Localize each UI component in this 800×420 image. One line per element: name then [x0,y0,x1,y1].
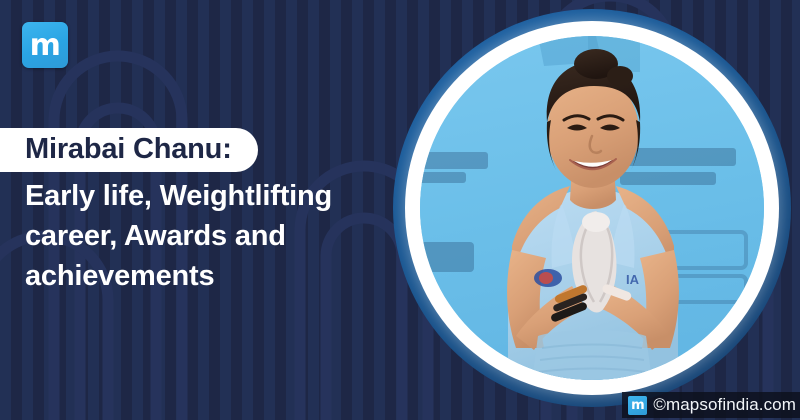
headline-block: Mirabai Chanu: Early life, Weightlifting… [0,128,400,296]
watermark-text: ©mapsofindia.com [653,395,796,415]
svg-text:IA: IA [626,272,640,287]
brand-logo[interactable]: m [22,22,68,68]
article-banner: m Mirabai Chanu: Early life, Weightlifti… [0,0,800,420]
watermark-logo-glyph: m [631,399,645,412]
portrait-outer-ring: IA [393,9,791,407]
athlete-portrait-photo: IA [420,36,764,380]
watermark: m ©mapsofindia.com [622,392,800,418]
headline-line-1: Mirabai Chanu: [0,128,258,172]
brand-logo-glyph: m [30,31,61,61]
headline-line-3: career, Awards and [0,216,400,256]
headline-line-2: Early life, Weightlifting [0,176,400,216]
watermark-logo-icon: m [628,396,647,415]
headline-line-4: achievements [0,256,400,296]
